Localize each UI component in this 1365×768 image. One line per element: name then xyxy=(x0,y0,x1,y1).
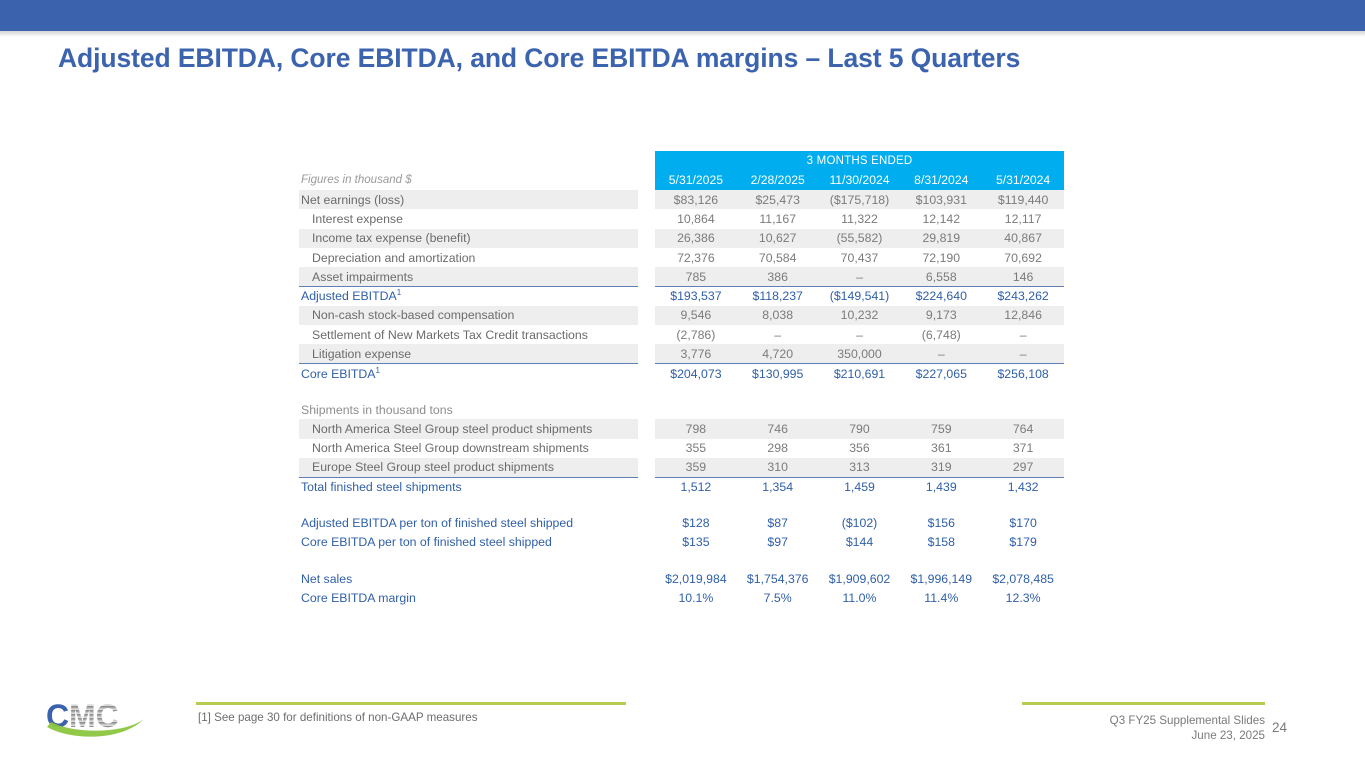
column-gap xyxy=(638,229,655,248)
cell-value xyxy=(982,400,1064,419)
cell-value: 361 xyxy=(900,439,982,458)
table-row: Depreciation and amortization72,37670,58… xyxy=(299,248,1064,267)
cell-value: 359 xyxy=(655,458,737,477)
table-row: Net earnings (loss)$83,126$25,473($175,7… xyxy=(299,190,1064,209)
cell-value: 790 xyxy=(819,419,901,438)
row-label: Depreciation and amortization xyxy=(299,248,638,267)
cell-value: 746 xyxy=(737,419,819,438)
page-title: Adjusted EBITDA, Core EBITDA, and Core E… xyxy=(58,43,1020,74)
column-gap xyxy=(638,513,655,532)
deck-info: Q3 FY25 Supplemental Slides June 23, 202… xyxy=(1110,714,1265,744)
footer-rule-right xyxy=(1022,702,1265,705)
cell-value: $128 xyxy=(655,513,737,532)
cell-value: 798 xyxy=(655,419,737,438)
row-label: Adjusted EBITDA per ton of finished stee… xyxy=(299,513,638,532)
column-gap xyxy=(638,439,655,458)
table-row: Europe Steel Group steel product shipmen… xyxy=(299,458,1064,477)
cell-value: 40,867 xyxy=(982,229,1064,248)
cell-value: 70,437 xyxy=(819,248,901,267)
cell-value: $87 xyxy=(737,513,819,532)
page-number: 24 xyxy=(1272,720,1287,735)
cell-value: $193,537 xyxy=(655,286,737,305)
row-label: Net sales xyxy=(299,569,638,588)
cell-value: $130,995 xyxy=(737,364,819,383)
cell-value: $2,019,984 xyxy=(655,569,737,588)
row-label: Litigation expense xyxy=(299,344,638,363)
column-header-2: 11/30/2024 xyxy=(819,171,901,190)
cell-value: – xyxy=(900,344,982,363)
cell-value: 371 xyxy=(982,439,1064,458)
cell-value: 386 xyxy=(737,267,819,286)
slide: Adjusted EBITDA, Core EBITDA, and Core E… xyxy=(0,0,1365,768)
cell-value: 355 xyxy=(655,439,737,458)
table-row: Core EBITDA1$204,073$130,995$210,691$227… xyxy=(299,364,1064,383)
units-note: Figures in thousand $ xyxy=(299,171,638,190)
column-gap xyxy=(638,248,655,267)
footnote-marker: 1 xyxy=(375,365,379,374)
column-header-4: 5/31/2024 xyxy=(982,171,1064,190)
row-label: Income tax expense (benefit) xyxy=(299,229,638,248)
cell-value: ($102) xyxy=(819,513,901,532)
row-label: Core EBITDA1 xyxy=(299,364,638,383)
column-gap xyxy=(638,533,655,552)
column-gap xyxy=(638,569,655,588)
cell-value: 11.0% xyxy=(819,588,901,607)
cell-value: 1,512 xyxy=(655,477,737,496)
cell-value: 10,864 xyxy=(655,209,737,228)
cell-value xyxy=(819,400,901,419)
row-label: Interest expense xyxy=(299,209,638,228)
column-gap xyxy=(638,267,655,286)
cell-value: $118,237 xyxy=(737,286,819,305)
footnote-text: [1] See page 30 for definitions of non-G… xyxy=(198,711,478,724)
table-row: Total finished steel shipments1,5121,354… xyxy=(299,477,1064,496)
table-header-banner-row: 3 MONTHS ENDED xyxy=(299,151,1064,171)
column-gap xyxy=(638,344,655,363)
table-header-dates-row: Figures in thousand $ 5/31/2025 2/28/202… xyxy=(299,171,1064,190)
cell-value: 6,558 xyxy=(900,267,982,286)
column-gap xyxy=(638,364,655,383)
footer-rule-left xyxy=(196,702,626,705)
column-gap xyxy=(638,209,655,228)
column-header-3: 8/31/2024 xyxy=(900,171,982,190)
cell-value: 70,584 xyxy=(737,248,819,267)
cell-value: 72,190 xyxy=(900,248,982,267)
cell-value: $1,909,602 xyxy=(819,569,901,588)
table-row: North America Steel Group downstream shi… xyxy=(299,439,1064,458)
cell-value: (55,582) xyxy=(819,229,901,248)
cell-value: 1,459 xyxy=(819,477,901,496)
dates-gap xyxy=(638,171,655,190)
table-row: Core EBITDA per ton of finished steel sh… xyxy=(299,533,1064,552)
cell-value: 26,386 xyxy=(655,229,737,248)
cell-value: 10,232 xyxy=(819,306,901,325)
cell-value: 12,117 xyxy=(982,209,1064,228)
cell-value: 759 xyxy=(900,419,982,438)
table-row: Adjusted EBITDA1$193,537$118,237($149,54… xyxy=(299,286,1064,305)
banner-spacer xyxy=(299,151,638,171)
cell-value: – xyxy=(819,267,901,286)
three-months-ended-banner: 3 MONTHS ENDED xyxy=(655,151,1064,171)
cell-value: 11,167 xyxy=(737,209,819,228)
cell-value xyxy=(737,400,819,419)
cell-value: $179 xyxy=(982,533,1064,552)
row-label: Europe Steel Group steel product shipmen… xyxy=(299,458,638,477)
deck-name: Q3 FY25 Supplemental Slides xyxy=(1110,714,1265,729)
cell-value: 10,627 xyxy=(737,229,819,248)
column-header-1: 2/28/2025 xyxy=(737,171,819,190)
table-head: 3 MONTHS ENDED Figures in thousand $ 5/3… xyxy=(299,151,1064,190)
table-row: Net sales$2,019,984$1,754,376$1,909,602$… xyxy=(299,569,1064,588)
row-label: North America Steel Group downstream shi… xyxy=(299,439,638,458)
cell-value: 4,720 xyxy=(737,344,819,363)
cell-value xyxy=(900,400,982,419)
table-spacer-row xyxy=(299,383,1064,400)
cell-value: 146 xyxy=(982,267,1064,286)
cell-value: – xyxy=(737,325,819,344)
column-gap xyxy=(638,400,655,419)
row-label: Adjusted EBITDA1 xyxy=(299,286,638,305)
cell-value: 9,173 xyxy=(900,306,982,325)
cell-value: 356 xyxy=(819,439,901,458)
financial-table: 3 MONTHS ENDED Figures in thousand $ 5/3… xyxy=(299,151,1064,608)
cell-value: – xyxy=(819,325,901,344)
table-spacer-row xyxy=(299,496,1064,513)
cell-value: $119,440 xyxy=(982,190,1064,209)
cell-value: $83,126 xyxy=(655,190,737,209)
cell-value: 11,322 xyxy=(819,209,901,228)
cell-value: $97 xyxy=(737,533,819,552)
svg-text:MC: MC xyxy=(69,698,119,734)
cmc-logo-icon: C MC xyxy=(44,697,172,743)
cell-value: (2,786) xyxy=(655,325,737,344)
cell-value: $227,065 xyxy=(900,364,982,383)
cell-value: 9,546 xyxy=(655,306,737,325)
column-gap xyxy=(638,190,655,209)
cell-value: 7.5% xyxy=(737,588,819,607)
table-body: Net earnings (loss)$83,126$25,473($175,7… xyxy=(299,190,1064,608)
table-row: Income tax expense (benefit)26,38610,627… xyxy=(299,229,1064,248)
cell-value: $210,691 xyxy=(819,364,901,383)
cell-value xyxy=(655,400,737,419)
column-header-0: 5/31/2025 xyxy=(655,171,737,190)
column-gap xyxy=(638,458,655,477)
cell-value: (6,748) xyxy=(900,325,982,344)
top-bar-shadow xyxy=(0,31,1365,37)
cell-value: 1,439 xyxy=(900,477,982,496)
row-label: Non-cash stock-based compensation xyxy=(299,306,638,325)
top-accent-bar xyxy=(0,0,1365,31)
cell-value: 8,038 xyxy=(737,306,819,325)
column-gap xyxy=(638,286,655,305)
row-label: North America Steel Group steel product … xyxy=(299,419,638,438)
cell-value: 764 xyxy=(982,419,1064,438)
cell-value: ($149,541) xyxy=(819,286,901,305)
cell-value: $103,931 xyxy=(900,190,982,209)
table-row: Adjusted EBITDA per ton of finished stee… xyxy=(299,513,1064,532)
row-label: Net earnings (loss) xyxy=(299,190,638,209)
table-row: Litigation expense3,7764,720350,000–– xyxy=(299,344,1064,363)
cell-value: – xyxy=(982,325,1064,344)
table-row: Non-cash stock-based compensation9,5468,… xyxy=(299,306,1064,325)
financial-table-container: 3 MONTHS ENDED Figures in thousand $ 5/3… xyxy=(299,151,1064,608)
cell-value: $243,262 xyxy=(982,286,1064,305)
table-row: Settlement of New Markets Tax Credit tra… xyxy=(299,325,1064,344)
table-spacer-row xyxy=(299,552,1064,569)
cell-value: $1,754,376 xyxy=(737,569,819,588)
table-row: Shipments in thousand tons xyxy=(299,400,1064,419)
cell-value: 12.3% xyxy=(982,588,1064,607)
row-label: Total finished steel shipments xyxy=(299,477,638,496)
cmc-logo: C MC xyxy=(44,697,172,743)
row-label: Shipments in thousand tons xyxy=(299,400,638,419)
table-row: Asset impairments785386–6,558146 xyxy=(299,267,1064,286)
column-gap xyxy=(638,477,655,496)
cell-value: $156 xyxy=(900,513,982,532)
cell-value: 298 xyxy=(737,439,819,458)
cell-value: $204,073 xyxy=(655,364,737,383)
column-gap xyxy=(638,306,655,325)
cell-value: $25,473 xyxy=(737,190,819,209)
cell-value: 785 xyxy=(655,267,737,286)
cell-value: ($175,718) xyxy=(819,190,901,209)
table-row: Core EBITDA margin10.1%7.5%11.0%11.4%12.… xyxy=(299,588,1064,607)
column-gap xyxy=(638,325,655,344)
cell-value: $224,640 xyxy=(900,286,982,305)
cell-value: 313 xyxy=(819,458,901,477)
cell-value: $158 xyxy=(900,533,982,552)
cell-value: $170 xyxy=(982,513,1064,532)
row-label: Asset impairments xyxy=(299,267,638,286)
row-label: Settlement of New Markets Tax Credit tra… xyxy=(299,325,638,344)
cell-value: 350,000 xyxy=(819,344,901,363)
cell-value: 12,142 xyxy=(900,209,982,228)
cell-value: $2,078,485 xyxy=(982,569,1064,588)
column-gap xyxy=(638,588,655,607)
row-label: Core EBITDA per ton of finished steel sh… xyxy=(299,533,638,552)
banner-gap xyxy=(638,151,655,171)
cell-value: 12,846 xyxy=(982,306,1064,325)
footnote-marker: 1 xyxy=(397,288,401,297)
cell-value: 310 xyxy=(737,458,819,477)
cell-value: 29,819 xyxy=(900,229,982,248)
cell-value: – xyxy=(982,344,1064,363)
cell-value: 72,376 xyxy=(655,248,737,267)
cell-value: 10.1% xyxy=(655,588,737,607)
deck-date: June 23, 2025 xyxy=(1110,729,1265,744)
cell-value: 319 xyxy=(900,458,982,477)
cell-value: 297 xyxy=(982,458,1064,477)
cell-value: 3,776 xyxy=(655,344,737,363)
column-gap xyxy=(638,419,655,438)
cell-value: 11.4% xyxy=(900,588,982,607)
cell-value: 1,432 xyxy=(982,477,1064,496)
row-label: Core EBITDA margin xyxy=(299,588,638,607)
table-row: North America Steel Group steel product … xyxy=(299,419,1064,438)
cell-value: $144 xyxy=(819,533,901,552)
table-row: Interest expense10,86411,16711,32212,142… xyxy=(299,209,1064,228)
cell-value: 70,692 xyxy=(982,248,1064,267)
cell-value: $256,108 xyxy=(982,364,1064,383)
cell-value: $135 xyxy=(655,533,737,552)
cell-value: 1,354 xyxy=(737,477,819,496)
cell-value: $1,996,149 xyxy=(900,569,982,588)
